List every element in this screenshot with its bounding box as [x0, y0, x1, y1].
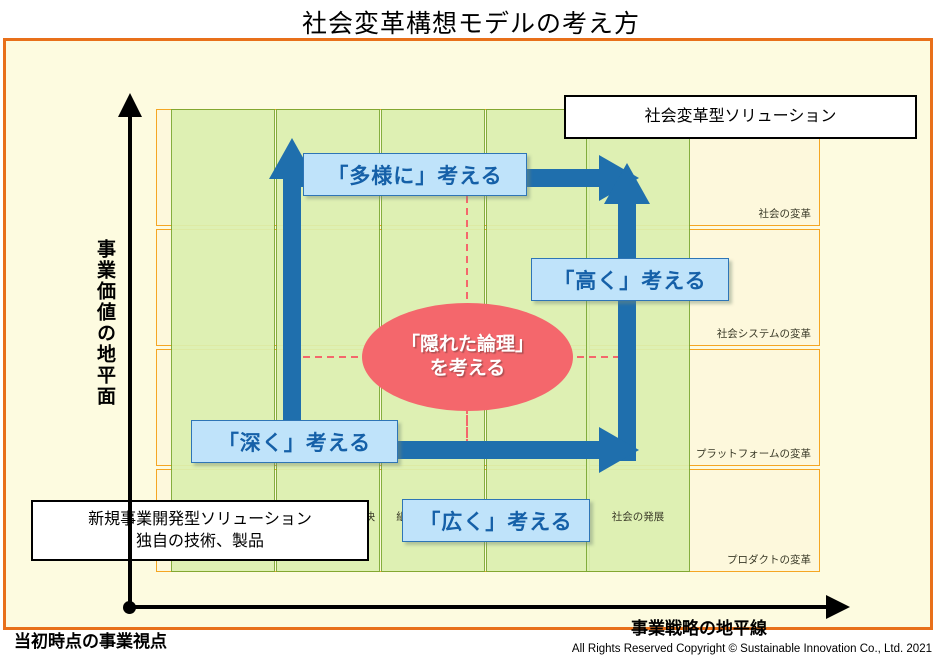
origin-dot — [123, 601, 136, 614]
column-label-society: 社会の発展 — [586, 509, 690, 524]
callout-new-business[interactable]: 新規事業開発型ソリューション 独自の技術、製品 — [31, 500, 369, 561]
callout-new-business-line2: 独自の技術、製品 — [136, 531, 264, 553]
x-axis-arrowhead-icon — [826, 595, 850, 619]
row-label-social: 社会の変革 — [759, 206, 812, 221]
center-ellipse-line1: 「隠れた論理」 — [401, 333, 534, 357]
center-ellipse: 「隠れた論理」 を考える — [362, 303, 573, 411]
column-band-society — [586, 109, 690, 572]
tile-wide[interactable]: 「広く」考える — [402, 499, 590, 542]
tile-deep[interactable]: 「深く」考える — [191, 420, 398, 463]
row-label-social-system: 社会システムの変革 — [717, 326, 811, 341]
copyright-footer: All Rights Reserved Copyright © Sustaina… — [0, 643, 932, 655]
slide-canvas: 社会変革構想モデルの考え方 社会の変革 社会システムの変革 プラットフォームの変… — [0, 0, 942, 667]
callout-social-transformation[interactable]: 社会変革型ソリューション — [564, 95, 917, 139]
x-axis-line — [128, 605, 831, 609]
callout-new-business-line1: 新規事業開発型ソリューション — [88, 509, 312, 531]
row-label-product: プロダクトの変革 — [727, 552, 811, 567]
tile-diverse[interactable]: 「多様に」考える — [303, 153, 527, 196]
center-ellipse-line2: を考える — [430, 357, 505, 381]
callout-social-transformation-text: 社会変革型ソリューション — [645, 106, 837, 128]
y-axis-label: 事業価値の地平面 — [88, 239, 114, 407]
tile-high[interactable]: 「高く」考える — [531, 258, 729, 301]
y-axis-line — [128, 113, 132, 607]
x-axis-label: 事業戦略の地平線 — [631, 614, 767, 639]
page-title: 社会変革構想モデルの考え方 — [0, 4, 942, 40]
row-label-platform: プラットフォームの変革 — [696, 446, 811, 461]
y-axis-arrowhead-icon — [118, 93, 142, 117]
diagram-panel: 社会の変革 社会システムの変革 プラットフォームの変革 プロダクトの変革 技術が… — [3, 38, 933, 630]
